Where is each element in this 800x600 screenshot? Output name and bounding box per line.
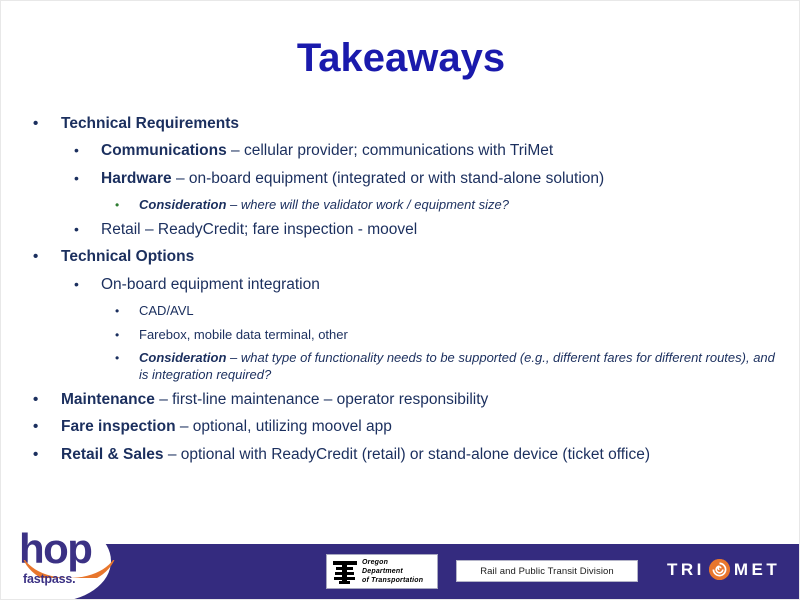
bullet-text: Retail & Sales – optional with ReadyCred…	[61, 445, 779, 465]
bullet-dot-icon: •	[115, 302, 119, 320]
page-title: Takeaways	[1, 37, 800, 79]
bullet-lead: Fare inspection	[61, 418, 176, 435]
bullet-level3-consideration-functionality: • Consideration – what type of functiona…	[23, 349, 779, 384]
bullet-dot-icon: •	[115, 326, 119, 344]
odot-line3: of Transportation	[362, 577, 423, 586]
bullet-lead: Consideration	[139, 350, 226, 365]
bullet-text: Farebox, mobile data terminal, other	[139, 326, 779, 343]
bullet-rest: – where will the validator work / equipm…	[226, 197, 509, 212]
bullet-text: Retail – ReadyCredit; fare inspection - …	[101, 220, 779, 240]
odot-logo: Oregon Department of Transportation	[326, 554, 438, 589]
bullet-rest: – what type of functionality needs to be…	[139, 350, 775, 382]
bullet-rest: – optional, utilizing moovel app	[176, 418, 392, 435]
odot-line2: Department	[362, 568, 423, 577]
bullet-rest: – on-board equipment (integrated or with…	[172, 170, 605, 187]
trimet-logo: TRI MET	[667, 559, 780, 580]
bullet-dot-icon: •	[33, 445, 38, 465]
bullet-lead: Hardware	[101, 170, 172, 187]
bullet-text: Communications – cellular provider; comm…	[101, 141, 779, 161]
trimet-swirl-icon	[709, 559, 730, 580]
bullet-text: Technical Requirements	[61, 114, 779, 134]
bullet-rest: – ReadyCredit; fare inspection - moovel	[141, 221, 418, 238]
bullet-lead: Consideration	[139, 197, 226, 212]
bullet-level1-technical-options: • Technical Options	[23, 247, 779, 267]
bullet-lead: Communications	[101, 142, 227, 159]
bullet-level1-maintenance: • Maintenance – first-line maintenance –…	[23, 390, 779, 410]
bullet-dot-icon: •	[74, 141, 79, 161]
bullet-dot-icon: •	[33, 417, 38, 437]
bullet-dot-icon: •	[74, 220, 79, 240]
bullet-level1-fare-inspection: • Fare inspection – optional, utilizing …	[23, 417, 779, 437]
odot-mark-icon	[331, 558, 359, 586]
rail-division-label: Rail and Public Transit Division	[480, 566, 614, 577]
odot-text-block: Oregon Department of Transportation	[362, 559, 423, 585]
trimet-wordmark-right: MET	[734, 560, 780, 580]
rail-division-box: Rail and Public Transit Division	[456, 560, 638, 582]
bullet-text: CAD/AVL	[139, 302, 779, 319]
odot-line1: Oregon	[362, 559, 423, 568]
bullet-dot-icon: •	[115, 349, 119, 367]
bullet-text: Consideration – where will the validator…	[139, 196, 779, 213]
hop-fastpass-logo: hop fastpass.	[19, 528, 124, 590]
bullet-level2-onboard-integration: • On-board equipment integration	[23, 275, 779, 295]
bullet-lead: Retail	[101, 221, 141, 238]
hop-tagline: fastpass.	[23, 572, 75, 586]
bullet-level3-farebox: • Farebox, mobile data terminal, other	[23, 326, 779, 343]
bullet-dot-icon: •	[74, 169, 79, 189]
bullet-dot-icon: •	[74, 275, 79, 295]
bullet-level2-communications: • Communications – cellular provider; co…	[23, 141, 779, 161]
bullet-level2-hardware: • Hardware – on-board equipment (integra…	[23, 169, 779, 189]
bullet-text: Hardware – on-board equipment (integrate…	[101, 169, 779, 189]
bullet-dot-icon: •	[115, 196, 119, 214]
bullet-rest: – optional with ReadyCredit (retail) or …	[164, 446, 650, 463]
bullet-level3-consideration-validator: • Consideration – where will the validat…	[23, 196, 779, 213]
bullet-dot-icon: •	[33, 247, 38, 267]
slide: Takeaways • Technical Requirements • Com…	[0, 0, 800, 600]
bullet-text: Maintenance – first-line maintenance – o…	[61, 390, 779, 410]
bullet-level1-retail-sales: • Retail & Sales – optional with ReadyCr…	[23, 445, 779, 465]
trimet-wordmark-left: TRI	[667, 560, 705, 580]
bullet-text: Consideration – what type of functionali…	[139, 349, 779, 384]
bullet-rest: – cellular provider; communications with…	[227, 142, 553, 159]
bullet-text: On-board equipment integration	[101, 275, 779, 295]
bullet-level2-retail: • Retail – ReadyCredit; fare inspection …	[23, 220, 779, 240]
bullet-text: Fare inspection – optional, utilizing mo…	[61, 417, 779, 437]
bullet-lead: Maintenance	[61, 391, 155, 408]
bullet-level1-technical-requirements: • Technical Requirements	[23, 114, 779, 134]
bullet-level3-cad-avl: • CAD/AVL	[23, 302, 779, 319]
bullet-dot-icon: •	[33, 390, 38, 410]
bullet-lead: Retail & Sales	[61, 446, 164, 463]
slide-body: • Technical Requirements • Communication…	[23, 114, 779, 472]
bullet-text: Technical Options	[61, 247, 779, 267]
bullet-rest: – first-line maintenance – operator resp…	[155, 391, 488, 408]
bullet-dot-icon: •	[33, 114, 38, 134]
